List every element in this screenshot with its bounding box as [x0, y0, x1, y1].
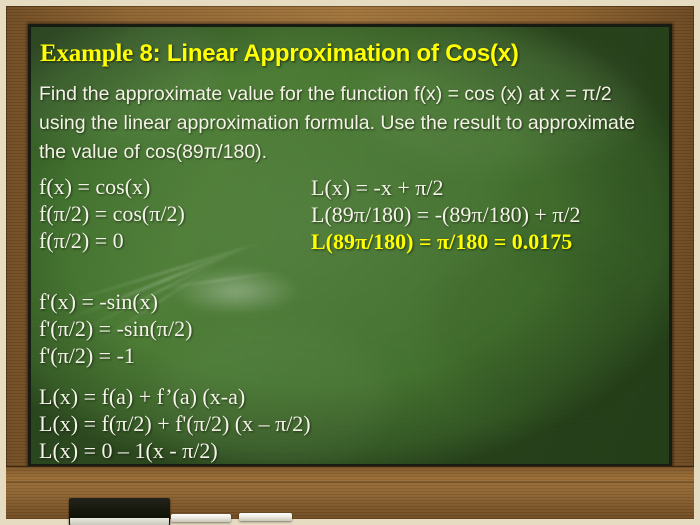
math-line: L(x) = f(a) + f’(a) (x-a) — [39, 383, 311, 410]
math-line: L(89π/180) = -(89π/180) + π/2 — [311, 201, 581, 228]
chalk-stick-1[interactable] — [171, 514, 231, 522]
page-title-serif: Example — [40, 40, 133, 67]
chalk-stick-2[interactable] — [239, 513, 292, 521]
math-line: f'(π/2) = -1 — [39, 342, 192, 369]
math-line: f'(π/2) = -sin(π/2) — [39, 315, 192, 342]
math-group-linearization: L(x) = f(a) + f’(a) (x-a) L(x) = f(π/2) … — [39, 383, 311, 464]
eraser-felt — [70, 518, 169, 525]
math-line: L(x) = -x + π/2 — [311, 174, 581, 201]
board-content: Example 8: Linear Approximation of Cos(x… — [31, 27, 669, 464]
math-line: f(π/2) = 0 — [39, 227, 185, 254]
math-line: L(x) = f(π/2) + f'(π/2) (x – π/2) — [39, 410, 311, 437]
math-line: L(x) = 0 – 1(x - π/2) — [39, 437, 311, 464]
math-line-highlighted-result: L(89π/180) = π/180 = 0.0175 — [311, 228, 581, 255]
chalkboard-eraser[interactable] — [69, 498, 170, 525]
page-title-sans: 8: Linear Approximation of Cos(x) — [133, 40, 519, 67]
chalkboard-slide: Example 8: Linear Approximation of Cos(x… — [0, 0, 700, 525]
chalkboard-surface: Example 8: Linear Approximation of Cos(x… — [31, 27, 669, 464]
ledge-lip — [6, 481, 694, 483]
math-group-derivative-values: f'(x) = -sin(x) f'(π/2) = -sin(π/2) f'(π… — [39, 288, 192, 369]
math-line: f(x) = cos(x) — [39, 173, 185, 200]
math-group-evaluation: L(x) = -x + π/2 L(89π/180) = -(89π/180) … — [311, 174, 581, 255]
problem-statement: Find the approximate value for the funct… — [39, 80, 656, 167]
math-group-function-values: f(x) = cos(x) f(π/2) = cos(π/2) f(π/2) =… — [39, 173, 185, 254]
page-title: Example 8: Linear Approximation of Cos(x… — [40, 40, 519, 68]
math-line: f(π/2) = cos(π/2) — [39, 200, 185, 227]
math-line: f'(x) = -sin(x) — [39, 288, 192, 315]
